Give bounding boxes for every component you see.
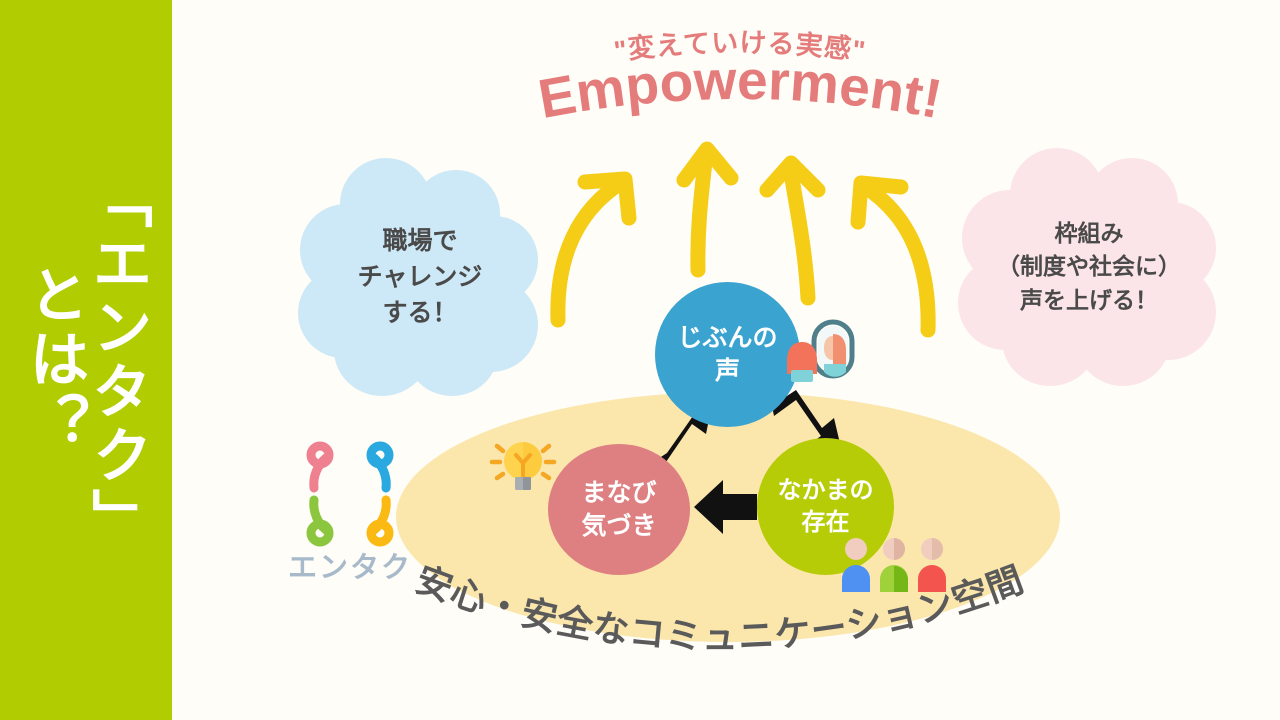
platform-caption-text: 安心・安全なコミュニケーション空間 <box>411 560 1030 657</box>
cycle-node-learning-awareness[interactable]: まなび 気づき <box>548 444 690 575</box>
headline-main: Empowerment! <box>534 49 947 130</box>
cycle-node-learning-awareness-label: まなび 気づき <box>581 477 656 543</box>
cycle-node-peer-presence-label: なかまの 存在 <box>778 475 874 538</box>
cloud-framework-voice: 枠組み （制度や社会に） 声を上げる！ <box>958 148 1220 386</box>
platform-caption: 安心・安全なコミュニケーション空間 <box>360 560 1080 690</box>
cycle-node-own-voice-label: じぶんの 声 <box>677 322 777 388</box>
cloud-workplace-challenge-text: 職場で チャレンジ する！ <box>298 158 542 396</box>
headline-arc: "変えていける実感" Empowerment! <box>440 18 1040 148</box>
entaku-logo-mark-icon <box>296 440 404 548</box>
sidebar-title: 「エンタク」 とは？ <box>0 0 172 720</box>
empowerment-arrow-2 <box>684 149 731 270</box>
cloud-framework-voice-text: 枠組み （制度や社会に） 声を上げる！ <box>958 148 1220 386</box>
person-mirror-icon <box>778 308 862 392</box>
slide-canvas: 「エンタク」 とは？ "変えていける実感" Empowerment! <box>0 0 1280 720</box>
cloud-workplace-challenge: 職場で チャレンジ する！ <box>298 158 542 396</box>
sidebar: 「エンタク」 とは？ <box>0 0 172 720</box>
entaku-logo-text: エンタク <box>288 544 412 586</box>
headline: "変えていける実感" Empowerment! <box>440 18 1040 148</box>
entaku-logo: エンタク <box>288 440 412 590</box>
empowerment-arrow-1 <box>558 179 629 320</box>
empowerment-arrow-3 <box>767 163 818 298</box>
lightbulb-icon <box>487 428 559 500</box>
empowerment-arrow-4 <box>858 183 928 330</box>
